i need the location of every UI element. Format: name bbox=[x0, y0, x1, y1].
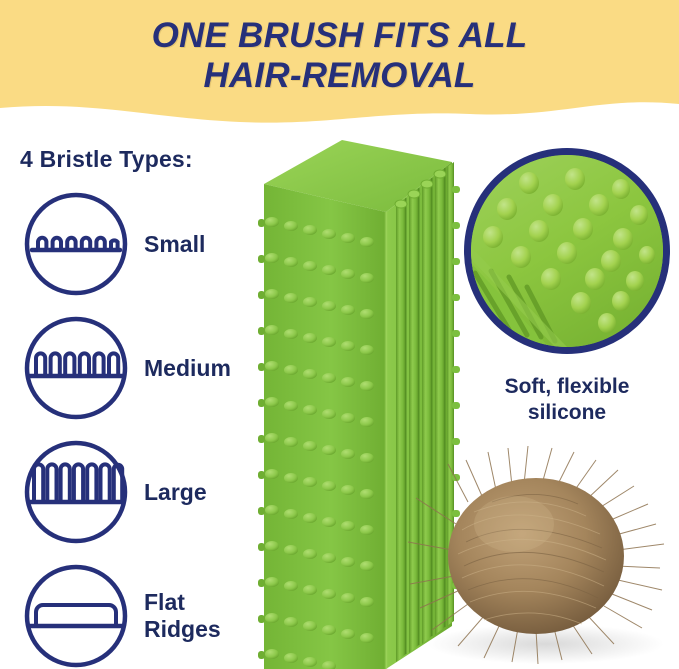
bristle-label-large: Large bbox=[144, 479, 207, 506]
header-banner: ONE BRUSH FITS ALL HAIR-REMOVAL bbox=[0, 0, 679, 128]
headline-line-1: ONE BRUSH FITS ALL bbox=[152, 16, 528, 55]
flat-ridges-icon bbox=[22, 562, 130, 669]
headline-line-2: HAIR-REMOVAL bbox=[0, 56, 679, 96]
bristle-type-row-small: Small bbox=[22, 190, 205, 298]
bristle-type-row-flat-ridges: Flat Ridges bbox=[22, 562, 221, 669]
bristle-medium-icon bbox=[22, 314, 130, 422]
infographic-canvas: ONE BRUSH FITS ALL HAIR-REMOVAL 4 Bristl… bbox=[0, 0, 679, 669]
bristle-types-heading: 4 Bristle Types: bbox=[20, 146, 266, 173]
page-title: ONE BRUSH FITS ALL HAIR-REMOVAL bbox=[0, 16, 679, 96]
bristle-label-flat-ridges: Flat Ridges bbox=[144, 589, 221, 643]
caption-line-1: Soft, flexible bbox=[505, 375, 630, 398]
bristle-types-panel: 4 Bristle Types: Small bbox=[16, 146, 266, 183]
closeup-caption: Soft, flexible silicone bbox=[452, 374, 679, 426]
bristle-type-row-medium: Medium bbox=[22, 314, 231, 422]
bristle-small-icon bbox=[22, 190, 130, 298]
bristle-type-row-large: Large bbox=[22, 438, 207, 546]
bristle-label-small: Small bbox=[144, 231, 205, 258]
silicone-bumps-closeup bbox=[464, 148, 670, 354]
caption-line-2: silicone bbox=[452, 400, 679, 426]
bristle-large-icon bbox=[22, 438, 130, 546]
collected-pet-hair-ball bbox=[396, 438, 679, 669]
bristle-label-medium: Medium bbox=[144, 355, 231, 382]
